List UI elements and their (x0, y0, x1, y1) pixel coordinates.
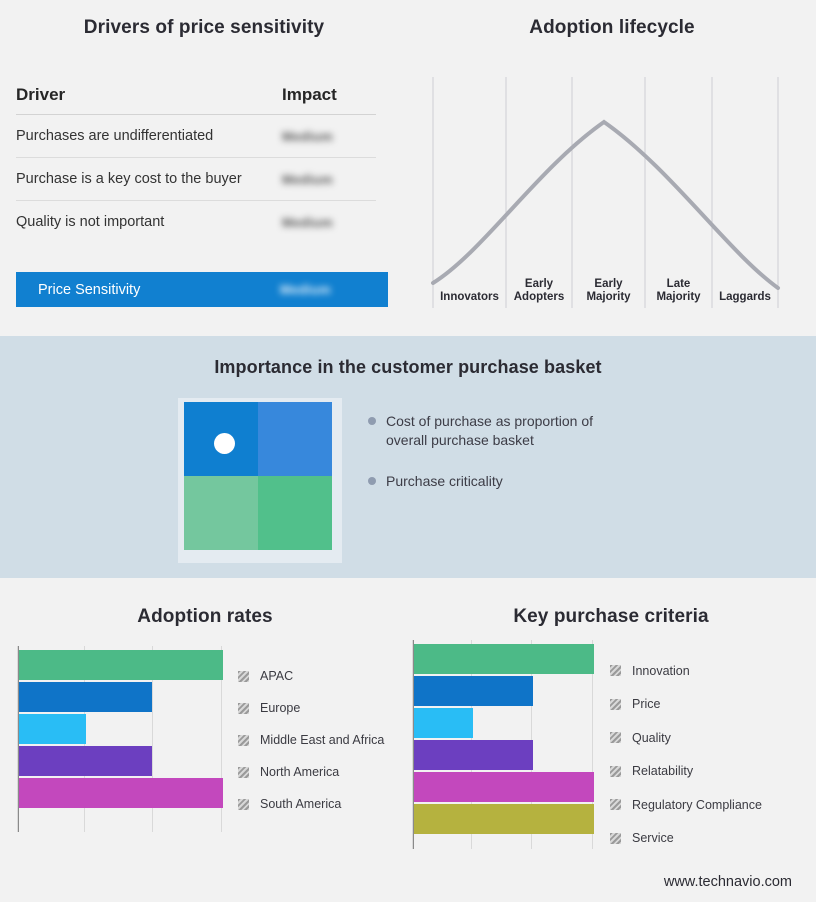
column-header-driver: Driver (16, 85, 282, 105)
bar-price (414, 676, 533, 706)
bar-middle-east-and-africa (19, 714, 86, 744)
hatched-swatch-icon (610, 766, 621, 777)
drivers-table: Driver Impact Purchases are undifferenti… (16, 85, 376, 243)
legend-item-label: Europe (260, 701, 300, 715)
bar-north-america (19, 746, 152, 776)
stage-label-late-majority: LateMajority (645, 278, 712, 304)
legend-item-label: APAC (260, 669, 293, 683)
gridline (17, 646, 18, 832)
hatched-swatch-icon (610, 833, 621, 844)
bell-curve-path (433, 122, 778, 288)
hatched-swatch-icon (238, 735, 249, 746)
bar-regulatory-compliance (414, 772, 594, 802)
bullet-dot-icon (368, 477, 376, 485)
hatched-swatch-icon (238, 671, 249, 682)
quadrant-matrix (184, 402, 332, 550)
drivers-panel-title: Drivers of price sensitivity (0, 17, 408, 39)
impact-value: Medium (282, 172, 376, 187)
legend-item-label: Regulatory Compliance (632, 798, 762, 812)
hatched-swatch-icon (610, 732, 621, 743)
summary-row-label: Price Sensitivity (16, 282, 280, 298)
adoption-rates-legend: APACEuropeMiddle East and AfricaNorth Am… (238, 660, 384, 820)
impact-value: Medium (282, 129, 376, 144)
quadrant-bottom-right (258, 476, 332, 550)
table-row: Purchase is a key cost to the buyer Medi… (16, 158, 376, 201)
key-purchase-criteria-plot (412, 640, 592, 849)
legend-item-label: Innovation (632, 664, 690, 678)
legend-item-label: Middle East and Africa (260, 733, 384, 747)
legend-item-label: Purchase criticality (386, 472, 503, 491)
legend-item-label: Relatability (632, 764, 693, 778)
hatched-swatch-icon (238, 703, 249, 714)
legend-item: Innovation (610, 654, 762, 688)
hatched-swatch-icon (610, 699, 621, 710)
lifecycle-divider-lines (433, 77, 778, 308)
purchase-basket-title: Importance in the customer purchase bask… (0, 357, 816, 378)
bar-europe (19, 682, 152, 712)
quadrant-bottom-left (184, 476, 258, 550)
purchase-basket-panel: Importance in the customer purchase bask… (0, 336, 816, 578)
legend-item: Middle East and Africa (238, 724, 384, 756)
bullet-dot-icon (368, 417, 376, 425)
drivers-panel: Drivers of price sensitivity Driver Impa… (0, 0, 408, 336)
legend-item: South America (238, 788, 384, 820)
table-row: Quality is not important Medium (16, 201, 376, 243)
hatched-swatch-icon (238, 767, 249, 778)
driver-label: Quality is not important (16, 214, 282, 230)
driver-label: Purchase is a key cost to the buyer (16, 171, 282, 187)
legend-item-label: North America (260, 765, 339, 779)
legend-item: Quality (610, 721, 762, 755)
bar-quality (414, 708, 473, 738)
legend-item: Relatability (610, 755, 762, 789)
stage-label-early-adopters: EarlyAdopters (506, 278, 572, 304)
purchase-basket-legend: Cost of purchase as proportion of overal… (368, 412, 698, 513)
price-sensitivity-summary-row: Price Sensitivity Medium (16, 272, 388, 307)
quadrant-top-right (258, 402, 332, 476)
legend-item: Regulatory Compliance (610, 788, 762, 822)
hatched-swatch-icon (610, 799, 621, 810)
impact-value: Medium (282, 215, 376, 230)
legend-item-label: Cost of purchase as proportion of overal… (386, 412, 636, 450)
bar-service (414, 804, 594, 834)
stage-label-laggards: Laggards (712, 291, 778, 304)
legend-item: Cost of purchase as proportion of overal… (368, 412, 698, 450)
bar-south-america (19, 778, 223, 808)
drivers-table-header: Driver Impact (16, 85, 376, 115)
bar-innovation (414, 644, 594, 674)
table-row: Purchases are undifferentiated Medium (16, 115, 376, 158)
legend-item: Purchase criticality (368, 472, 698, 491)
hatched-swatch-icon (238, 799, 249, 810)
adoption-rates-plot (17, 646, 221, 832)
legend-item-label: Service (632, 831, 674, 845)
legend-item-label: Price (632, 697, 660, 711)
quadrant-top-left (184, 402, 258, 476)
adoption-rates-panel: Adoption rates APACEuropeMiddle East and… (0, 578, 410, 902)
legend-item: North America (238, 756, 384, 788)
position-marker-circle (214, 433, 235, 454)
adoption-rates-title: Adoption rates (0, 606, 410, 628)
legend-item-label: South America (260, 797, 341, 811)
key-purchase-criteria-legend: InnovationPriceQualityRelatabilityRegula… (610, 654, 762, 855)
bar-apac (19, 650, 223, 680)
key-purchase-criteria-title: Key purchase criteria (406, 606, 816, 628)
gridline (412, 640, 413, 849)
bar-relatability (414, 740, 533, 770)
footer-website-url: www.technavio.com (664, 874, 792, 890)
driver-label: Purchases are undifferentiated (16, 128, 282, 144)
legend-item: Service (610, 822, 762, 856)
hatched-swatch-icon (610, 665, 621, 676)
legend-item-label: Quality (632, 731, 671, 745)
legend-item: APAC (238, 660, 384, 692)
adoption-lifecycle-panel: Adoption lifecycle Innovators EarlyAdopt… (408, 0, 816, 336)
stage-label-early-majority: EarlyMajority (572, 278, 645, 304)
legend-item: Europe (238, 692, 384, 724)
legend-item: Price (610, 688, 762, 722)
key-purchase-criteria-panel: Key purchase criteria InnovationPriceQua… (406, 578, 816, 902)
quadrant-matrix-frame (178, 398, 342, 563)
stage-label-innovators: Innovators (433, 291, 506, 304)
column-header-impact: Impact (282, 85, 376, 105)
summary-row-impact: Medium (280, 282, 374, 297)
